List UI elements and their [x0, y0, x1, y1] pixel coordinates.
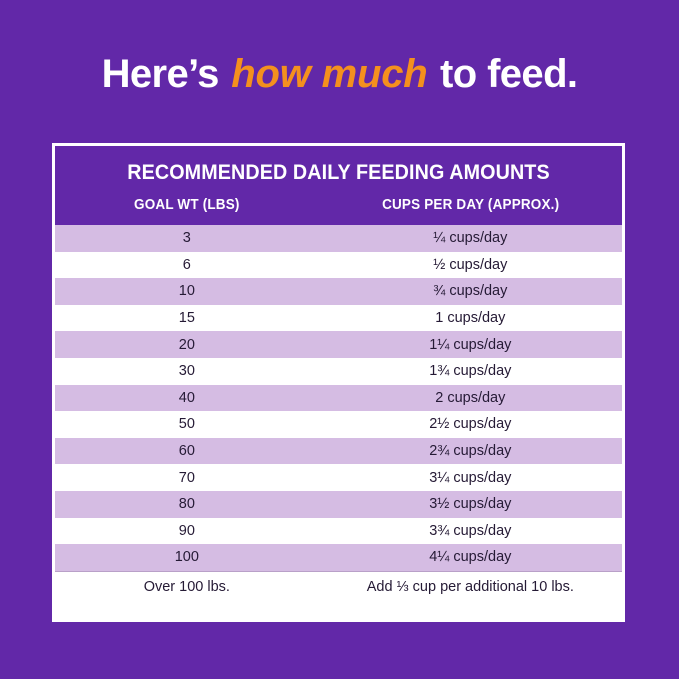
cell-cups-per-day: 3¾ cups/day: [319, 522, 622, 540]
cell-goal-weight: 100: [55, 548, 319, 566]
column-header-cups-per-day: CUPS PER DAY (APPROX.): [329, 195, 611, 215]
cell-goal-weight: 90: [55, 522, 319, 540]
table-row: 3 ¼ cups/day: [55, 225, 622, 252]
table-title: RECOMMENDED DAILY FEEDING AMOUNTS: [72, 160, 605, 186]
table-row: 70 3¼ cups/day: [55, 464, 622, 491]
table-row: 60 2¾ cups/day: [55, 438, 622, 465]
cell-goal-weight: 30: [55, 362, 319, 380]
table-row: 10 ¾ cups/day: [55, 278, 622, 305]
cell-goal-weight: 10: [55, 282, 319, 300]
cell-goal-weight: 40: [55, 389, 319, 407]
table-body: 3 ¼ cups/day 6 ½ cups/day 10 ¾ cups/day …: [55, 225, 622, 603]
cell-cups-per-day: 1¾ cups/day: [319, 362, 622, 380]
cell-cups-per-day: 3¼ cups/day: [319, 469, 622, 487]
headline-emphasis: how much: [229, 52, 429, 96]
cell-cups-per-day: 1¼ cups/day: [319, 336, 622, 354]
feeding-table: RECOMMENDED DAILY FEEDING AMOUNTS GOAL W…: [55, 146, 622, 619]
table-footer-row: Over 100 lbs. Add ⅓ cup per additional 1…: [55, 571, 622, 603]
cell-goal-weight-overflow: Over 100 lbs.: [55, 578, 319, 596]
feeding-chart-page: Here’s how much to feed. RECOMMENDED DAI…: [0, 0, 679, 679]
table-row: 15 1 cups/day: [55, 305, 622, 332]
cell-cups-per-day: ¼ cups/day: [319, 229, 622, 247]
cell-cups-per-day: 3½ cups/day: [319, 495, 622, 513]
cell-cups-per-day: 2½ cups/day: [319, 415, 622, 433]
headline-text-after: to feed.: [429, 52, 577, 96]
table-row: 20 1¼ cups/day: [55, 331, 622, 358]
cell-cups-per-day: 2 cups/day: [319, 389, 622, 407]
table-row: 40 2 cups/day: [55, 385, 622, 412]
cell-goal-weight: 3: [55, 229, 319, 247]
table-header-band: RECOMMENDED DAILY FEEDING AMOUNTS GOAL W…: [55, 146, 622, 225]
table-row: 100 4¼ cups/day: [55, 544, 622, 571]
cell-goal-weight: 70: [55, 469, 319, 487]
cell-cups-per-day: 1 cups/day: [319, 309, 622, 327]
table-row: 50 2½ cups/day: [55, 411, 622, 438]
cell-goal-weight: 20: [55, 336, 319, 354]
cell-cups-per-day-overflow: Add ⅓ cup per additional 10 lbs.: [319, 578, 622, 596]
table-row: 90 3¾ cups/day: [55, 518, 622, 545]
column-headers: GOAL WT (LBS) CUPS PER DAY (APPROX.): [55, 195, 622, 215]
table-row: 30 1¾ cups/day: [55, 358, 622, 385]
cell-goal-weight: 50: [55, 415, 319, 433]
headline-text-before: Here’s: [102, 52, 230, 96]
cell-cups-per-day: 4¼ cups/day: [319, 548, 622, 566]
column-header-goal-weight: GOAL WT (LBS): [64, 195, 309, 215]
table-row: 80 3½ cups/day: [55, 491, 622, 518]
table-row: 6 ½ cups/day: [55, 252, 622, 279]
cell-cups-per-day: ¾ cups/day: [319, 282, 622, 300]
cell-cups-per-day: ½ cups/day: [319, 256, 622, 274]
cell-goal-weight: 60: [55, 442, 319, 460]
cell-goal-weight: 80: [55, 495, 319, 513]
cell-cups-per-day: 2¾ cups/day: [319, 442, 622, 460]
cell-goal-weight: 15: [55, 309, 319, 327]
feeding-table-frame: RECOMMENDED DAILY FEEDING AMOUNTS GOAL W…: [52, 143, 625, 622]
page-headline: Here’s how much to feed.: [0, 50, 679, 98]
cell-goal-weight: 6: [55, 256, 319, 274]
